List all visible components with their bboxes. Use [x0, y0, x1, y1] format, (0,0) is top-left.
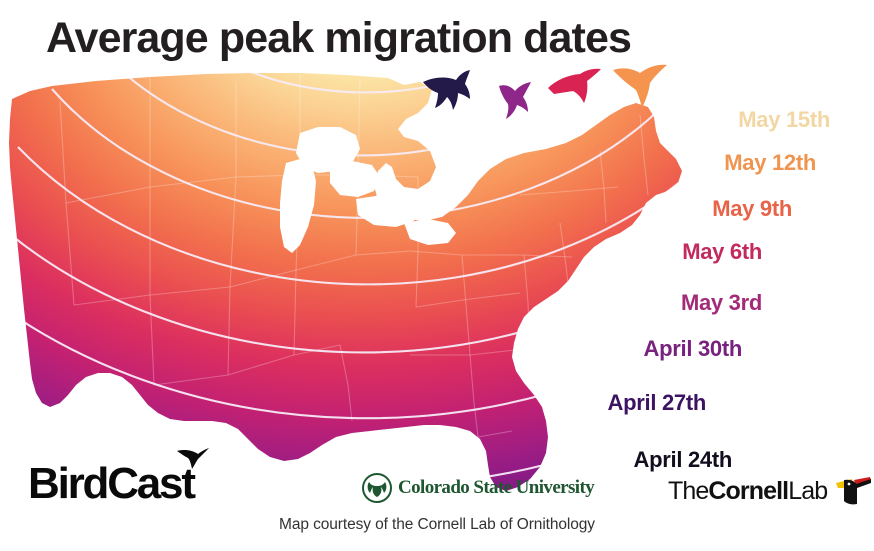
map-caption: Map courtesy of the Cornell Lab of Ornit…	[0, 516, 874, 534]
map-fill	[0, 55, 720, 525]
legend-label-may-6th[interactable]: May 6th	[682, 239, 762, 265]
csu-wordmark: Colorado State University	[398, 477, 594, 499]
cornell-lab-logo[interactable]: TheCornellLab	[668, 474, 872, 508]
bird-silhouette-3-icon	[546, 68, 604, 110]
birdcast-bird-icon	[176, 447, 210, 469]
cornell-word-cornell: Cornell	[708, 477, 788, 505]
bird-silhouette-1-icon	[420, 66, 478, 116]
legend-label-april-30th[interactable]: April 30th	[644, 336, 742, 362]
legend-label-may-3rd[interactable]: May 3rd	[681, 290, 762, 316]
cornell-woodpecker-icon	[830, 474, 872, 508]
legend-label-april-24th[interactable]: April 24th	[634, 447, 732, 473]
bird-silhouette-2-icon	[495, 80, 537, 122]
map-svg	[0, 55, 720, 525]
infographic-canvas: Average peak migration dates	[0, 0, 874, 551]
migration-map[interactable]	[0, 55, 720, 525]
bird-silhouette-4-icon	[612, 63, 668, 111]
csu-ram-icon	[362, 473, 392, 503]
birdcast-logo[interactable]: BirdCast	[28, 462, 194, 506]
page-title: Average peak migration dates	[46, 16, 631, 61]
legend-label-may-15th[interactable]: May 15th	[738, 107, 830, 133]
legend-label-may-12th[interactable]: May 12th	[724, 150, 816, 176]
legend-label-may-9th[interactable]: May 9th	[712, 196, 792, 222]
cornell-word-lab: Lab	[788, 477, 827, 505]
birdcast-wordmark: BirdCast	[28, 462, 194, 506]
legend-label-april-27th[interactable]: April 27th	[608, 390, 706, 416]
colorado-state-university-logo[interactable]: Colorado State University	[362, 473, 594, 503]
cornell-word-the: The	[668, 477, 708, 505]
cornell-wordmark: TheCornellLab	[668, 479, 827, 504]
